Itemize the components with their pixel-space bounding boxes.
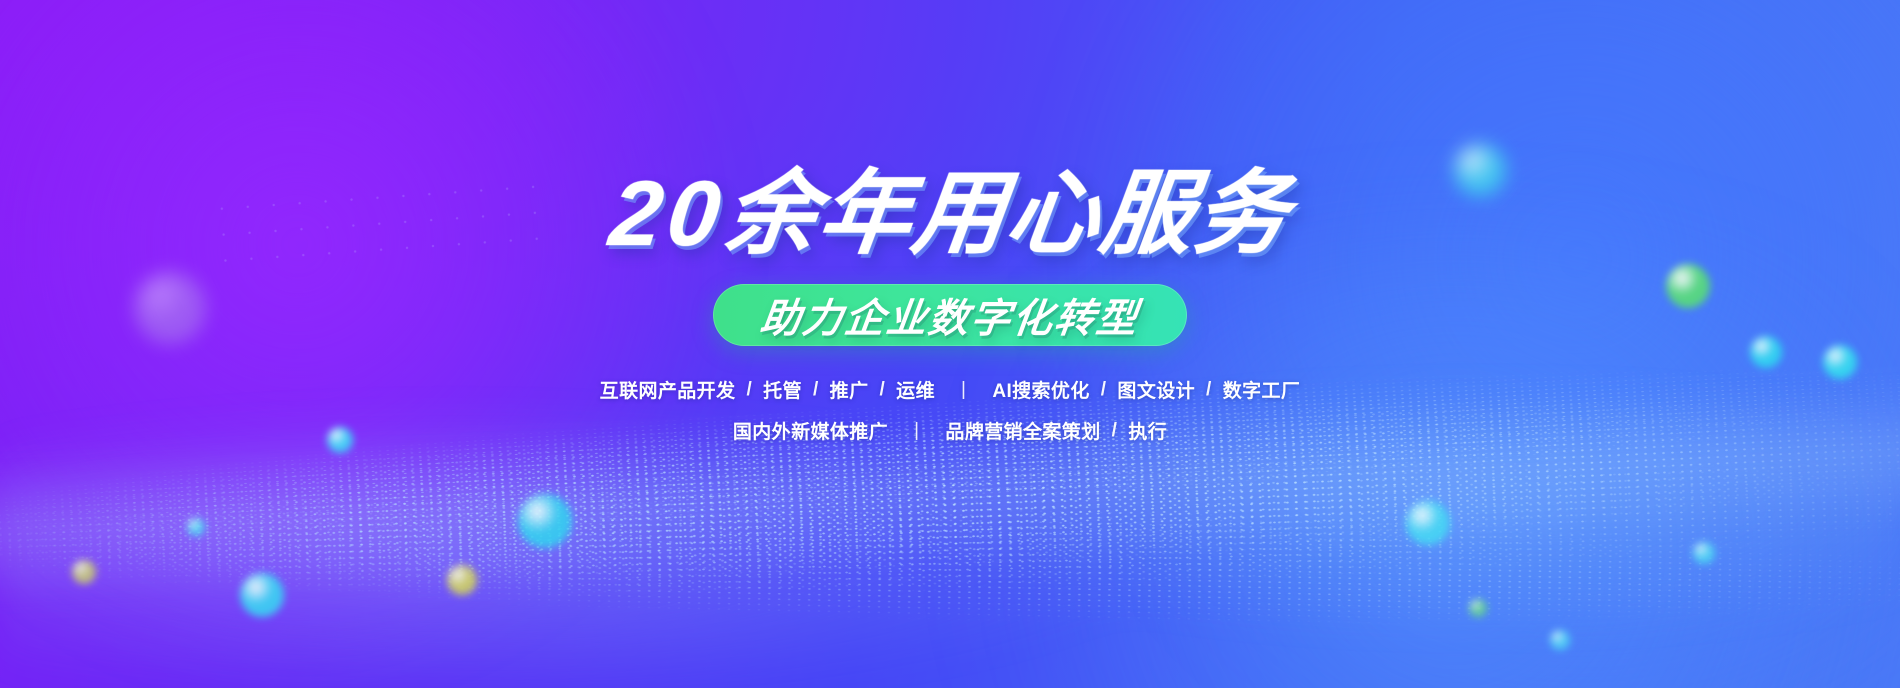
service-item[interactable]: 推广 bbox=[830, 376, 869, 403]
service-group-divider: | bbox=[888, 420, 945, 442]
service-item[interactable]: 互联网产品开发 bbox=[600, 376, 736, 403]
service-separator: / bbox=[735, 379, 763, 401]
subtitle-pill-label: 助力企业数字化转型 bbox=[757, 286, 1142, 344]
service-line-2: 国内外新媒体推广|品牌营销全案策划/执行 bbox=[600, 417, 1301, 444]
subtitle-pill: 助力企业数字化转型 bbox=[713, 284, 1187, 346]
service-list: 互联网产品开发/托管/推广/运维|AI搜索优化/图文设计/数字工厂国内外新媒体推… bbox=[600, 376, 1301, 444]
headline: 20余年用心服务 bbox=[605, 168, 1295, 260]
service-item[interactable]: 运维 bbox=[896, 376, 935, 403]
service-item[interactable]: 托管 bbox=[763, 376, 802, 403]
service-separator: / bbox=[1090, 379, 1118, 401]
headline-rest: 余年用心服务 bbox=[719, 163, 1296, 265]
service-item[interactable]: 国内外新媒体推广 bbox=[733, 417, 888, 444]
service-item[interactable]: 执行 bbox=[1128, 417, 1167, 444]
service-separator: / bbox=[802, 379, 830, 401]
banner-content: 20余年用心服务 助力企业数字化转型 互联网产品开发/托管/推广/运维|AI搜索… bbox=[0, 0, 1900, 688]
service-group-divider: | bbox=[935, 379, 992, 401]
hero-banner: 20余年用心服务 助力企业数字化转型 互联网产品开发/托管/推广/运维|AI搜索… bbox=[0, 0, 1900, 688]
service-item[interactable]: AI搜索优化 bbox=[992, 376, 1089, 403]
service-line-1: 互联网产品开发/托管/推广/运维|AI搜索优化/图文设计/数字工厂 bbox=[600, 376, 1301, 403]
service-item[interactable]: 图文设计 bbox=[1117, 376, 1195, 403]
headline-number: 20 bbox=[605, 163, 732, 265]
service-separator: / bbox=[1195, 379, 1223, 401]
service-separator: / bbox=[868, 379, 896, 401]
service-item[interactable]: 品牌营销全案策划 bbox=[945, 417, 1100, 444]
service-item[interactable]: 数字工厂 bbox=[1223, 376, 1301, 403]
service-separator: / bbox=[1101, 420, 1129, 442]
